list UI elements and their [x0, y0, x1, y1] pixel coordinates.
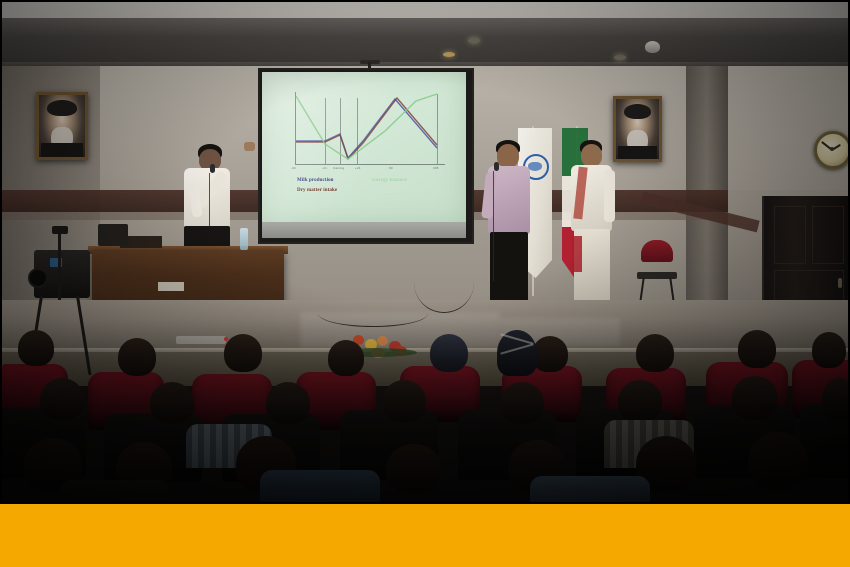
floor-cable [414, 252, 474, 313]
footer-banner: A G N A AGRICULTURE NEWS AGENCY استفاده … [0, 504, 850, 567]
chair-backrest [641, 240, 673, 262]
audience-head [532, 336, 568, 372]
attendee-arm [604, 170, 615, 222]
audience-head [328, 340, 364, 376]
audience-head [618, 380, 662, 422]
audience-head [812, 332, 846, 368]
screen-bottom-bar [262, 222, 466, 238]
podium-nameplate [158, 282, 184, 291]
microphone [210, 164, 215, 173]
audience-head [636, 334, 674, 372]
audience-head [150, 382, 194, 424]
audience-head [386, 444, 442, 494]
tripod-head [52, 226, 68, 234]
microphone-cord [209, 173, 210, 227]
folding-chair[interactable] [637, 240, 677, 302]
door-knob[interactable] [838, 278, 842, 288]
water-bottle [240, 228, 248, 250]
ceiling-light [614, 55, 626, 60]
desk-box [98, 224, 128, 246]
microphone-cord [493, 171, 494, 281]
floor-cable [318, 300, 428, 327]
flower-petal [377, 336, 388, 346]
audience-shoulders [530, 476, 650, 504]
door-panel [774, 206, 806, 264]
wall-clock [814, 131, 850, 169]
speaker-head [497, 144, 519, 168]
attendee-red-folder [572, 236, 582, 272]
portrait-robe [618, 146, 658, 159]
presenter-hand [244, 142, 255, 151]
clock-center-dot [830, 147, 834, 151]
microphone [494, 162, 499, 171]
portrait-turban [624, 104, 652, 120]
screenshot-root: -60 -21 Calving +21 90 305 Milk producti… [0, 0, 850, 567]
camera-lens [28, 268, 48, 288]
door-panel [812, 206, 844, 264]
portrait-turban [47, 100, 76, 116]
chair-leg [669, 278, 674, 302]
audience-head [738, 330, 776, 368]
audience-head [500, 382, 544, 424]
audience-head [430, 334, 468, 372]
tripod-leg [58, 230, 61, 300]
audience-head [822, 378, 850, 420]
audience-head [266, 382, 310, 424]
audience-head [382, 380, 426, 422]
audience-head [732, 376, 778, 420]
audience-head [18, 330, 54, 366]
audience-shoulders [260, 470, 380, 504]
portrait-robe [41, 143, 83, 157]
chair-leg [639, 278, 644, 302]
audience-head [118, 338, 156, 376]
event-photograph: -60 -21 Calving +21 90 305 Milk producti… [0, 0, 850, 504]
ceiling-beam [0, 18, 850, 66]
audience-shoulders [60, 480, 170, 504]
laptop-on-floor [176, 336, 226, 344]
audience-head [40, 378, 84, 420]
framed-portrait-left [36, 92, 88, 160]
ceiling-light [443, 52, 455, 57]
audience-head [224, 334, 262, 372]
ceiling-light [468, 38, 480, 43]
screen-glare [262, 72, 466, 224]
attendee-head [581, 144, 602, 167]
ceiling-smoke-detector-icon [645, 41, 660, 53]
audience-head [748, 432, 808, 490]
